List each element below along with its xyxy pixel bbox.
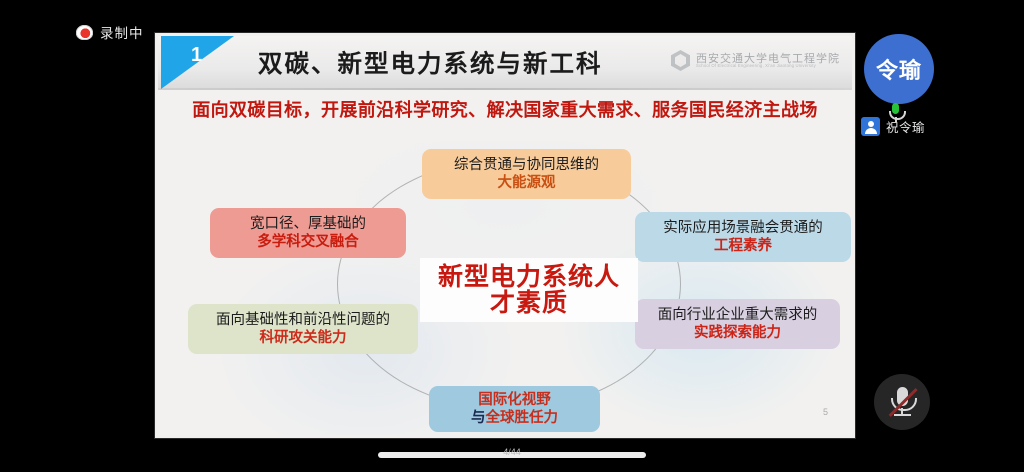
node-bottom-line2-prefix: 与 [471,410,486,426]
screen-root: 录制中 1 双碳、新型电力系统与新工科 西安交通大学电气工程学院 School … [0,0,1024,472]
node-top: 综合贯通与协同思维的 大能源观 [422,149,631,199]
node-right-top-line2: 工程素养 [641,237,845,255]
record-dot-icon [76,25,93,40]
node-left-bottom-line1: 面向基础性和前沿性问题的 [194,311,412,329]
person-icon [861,117,880,136]
node-right-bottom-line1: 面向行业企业重大需求的 [641,306,834,324]
center-line1: 新型电力系统人 [438,264,620,291]
node-left-bottom-line2: 科研攻关能力 [194,329,412,347]
node-right-top: 实际应用场景融会贯通的 工程素养 [635,212,851,262]
node-left-top-line1: 宽口径、厚基础的 [216,215,400,233]
slide-page-number: 5 [823,407,828,417]
slide-title: 双碳、新型电力系统与新工科 [258,45,603,80]
recording-indicator: 录制中 [76,22,144,42]
logo-text: 西安交通大学电气工程学院 School Of Electrical Engine… [696,53,840,69]
node-left-top: 宽口径、厚基础的 多学科交叉融合 [210,208,406,258]
recording-label: 录制中 [100,22,144,42]
node-left-top-line2: 多学科交叉融合 [216,233,400,251]
node-left-bottom: 面向基础性和前沿性问题的 科研攻关能力 [188,304,418,354]
diagram-center: 新型电力系统人 才素质 [420,258,638,322]
participant-name: 祝令瑜 [886,117,925,136]
node-bottom-line2: 与全球胜任力 [435,409,594,427]
header-rule [158,88,852,90]
node-bottom-line2-main: 全球胜任力 [486,410,559,426]
slide-subtitle: 面向双碳目标，开展前沿科学研究、解决国家重大需求、服务国民经济主战场 [158,96,852,122]
logo-english-name: School Of Electrical Engineering, Xi'an … [696,64,840,68]
shared-slide[interactable]: 1 双碳、新型电力系统与新工科 西安交通大学电气工程学院 School Of E… [155,33,855,438]
node-top-line2: 大能源观 [428,174,625,192]
node-right-bottom: 面向行业企业重大需求的 实践探索能力 [635,299,840,349]
mute-microphone-button[interactable] [874,374,930,430]
avatar[interactable]: 令瑜 [864,34,934,104]
node-right-top-line1: 实际应用场景融会贯通的 [641,219,845,237]
node-bottom-line1: 国际化视野 [435,391,594,409]
node-top-line1: 综合贯通与协同思维的 [428,156,625,174]
playback-scrubber[interactable]: 4/44 [378,452,646,458]
university-logo: 西安交通大学电气工程学院 School Of Electrical Engine… [671,50,840,71]
node-right-bottom-line2: 实践探索能力 [641,324,834,342]
center-line2: 才素质 [490,290,568,317]
page-progress-label: 4/44 [378,447,646,457]
node-bottom: 国际化视野 与全球胜任力 [429,386,600,432]
section-badge-number: 1 [191,44,202,67]
participant-rail: 令瑜 祝令瑜 [856,0,1024,472]
logo-mark-icon [671,50,690,71]
slide-canvas: 1 双碳、新型电力系统与新工科 西安交通大学电气工程学院 School Of E… [158,36,852,435]
participant-name-row: 祝令瑜 [861,117,925,136]
